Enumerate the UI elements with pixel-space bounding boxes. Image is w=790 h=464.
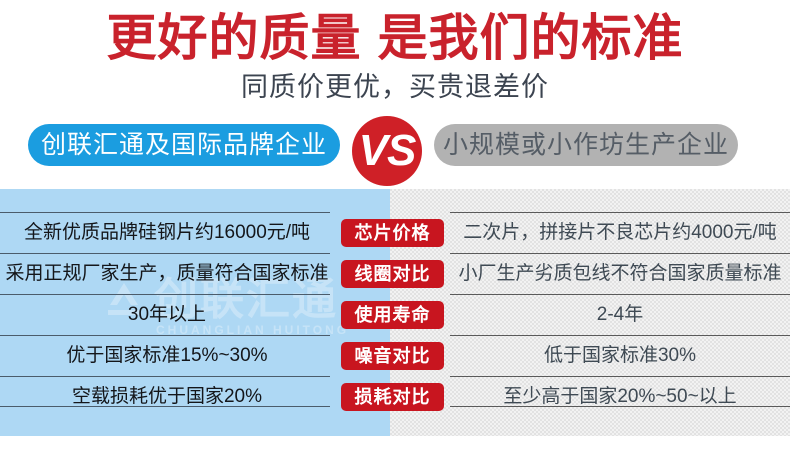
row-left-value: 采用正规厂家生产，质量符合国家标准 [4,254,330,294]
table-row: 优于国家标准15%~30% 噪音对比 低于国家标准30% [0,335,790,376]
row-category-badge: 损耗对比 [341,383,444,411]
row-left-value: 30年以上 [4,295,330,335]
row-right-value: 二次片，拼接片不良芯片约4000元/吨 [450,213,790,253]
vs-badge-icon: VS [352,116,422,186]
row-left-value: 全新优质品牌硅钢片约16000元/吨 [4,213,330,253]
row-category-badge: 芯片价格 [341,219,444,247]
table-bottom-divider-left [0,406,330,407]
brand-pill-right: 小规模或小作坊生产企业 [434,124,738,166]
page-subheadline: 同质价更优，买贵退差价 [0,70,790,104]
table-row: 空载损耗优于国家20% 损耗对比 至少高于国家20%~50~以上 [0,376,790,417]
row-category-badge: 线圈对比 [341,260,444,288]
table-row: 30年以上 使用寿命 2-4年 [0,294,790,335]
versus-band: 创联汇通及国际品牌企业 VS 小规模或小作坊生产企业 [0,116,790,188]
row-right-value: 2-4年 [450,295,790,335]
headline-part-1: 更好的质量 [107,10,362,66]
row-right-value: 至少高于国家20%~50~以上 [450,377,790,417]
row-right-value: 低于国家标准30% [450,336,790,376]
comparison-table: 创联汇通 CHUANGLIAN HUITONG 全新优质品牌硅钢片约16000元… [0,189,790,436]
brand-pill-left: 创联汇通及国际品牌企业 [28,124,340,166]
promo-banner: 更好的质量是我们的标准 同质价更优，买贵退差价 创联汇通及国际品牌企业 VS 小… [0,0,790,464]
table-bottom-divider-right [450,406,790,407]
row-category-badge: 噪音对比 [341,342,444,370]
row-left-value: 空载损耗优于国家20% [4,377,330,417]
row-category-badge: 使用寿命 [341,301,444,329]
row-left-value: 优于国家标准15%~30% [4,336,330,376]
table-row: 全新优质品牌硅钢片约16000元/吨 芯片价格 二次片，拼接片不良芯片约4000… [0,212,790,253]
row-right-value: 小厂生产劣质包线不符合国家质量标准 [450,254,790,294]
page-headline: 更好的质量是我们的标准 [0,8,790,68]
table-row: 采用正规厂家生产，质量符合国家标准 线圈对比 小厂生产劣质包线不符合国家质量标准 [0,253,790,294]
headline-part-2: 是我们的标准 [378,10,684,66]
comparison-rows: 全新优质品牌硅钢片约16000元/吨 芯片价格 二次片，拼接片不良芯片约4000… [0,189,790,436]
